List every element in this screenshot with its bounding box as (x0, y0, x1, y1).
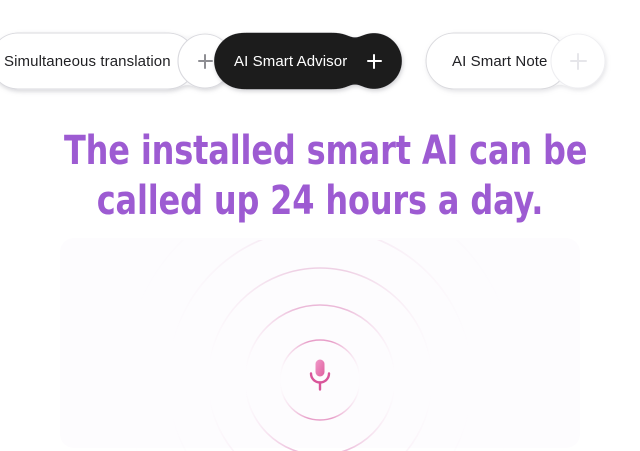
headline-line-2: called up 24 hours a day. (64, 176, 576, 226)
chip-label: Simultaneous translation (4, 30, 171, 92)
sound-wave-arcs (0, 240, 640, 451)
headline-line-1: The installed smart AI can be (64, 126, 576, 176)
plus-icon[interactable] (547, 30, 609, 92)
page-headline: The installed smart AI can be called up … (64, 126, 576, 226)
app-screen: Simultaneous translation (0, 0, 640, 451)
chip-label: AI Smart Advisor (234, 30, 347, 92)
chip-row: Simultaneous translation (0, 30, 640, 92)
chip-label: AI Smart Note (452, 30, 548, 92)
plus-icon[interactable] (343, 30, 405, 92)
microphone-icon[interactable] (305, 358, 335, 392)
